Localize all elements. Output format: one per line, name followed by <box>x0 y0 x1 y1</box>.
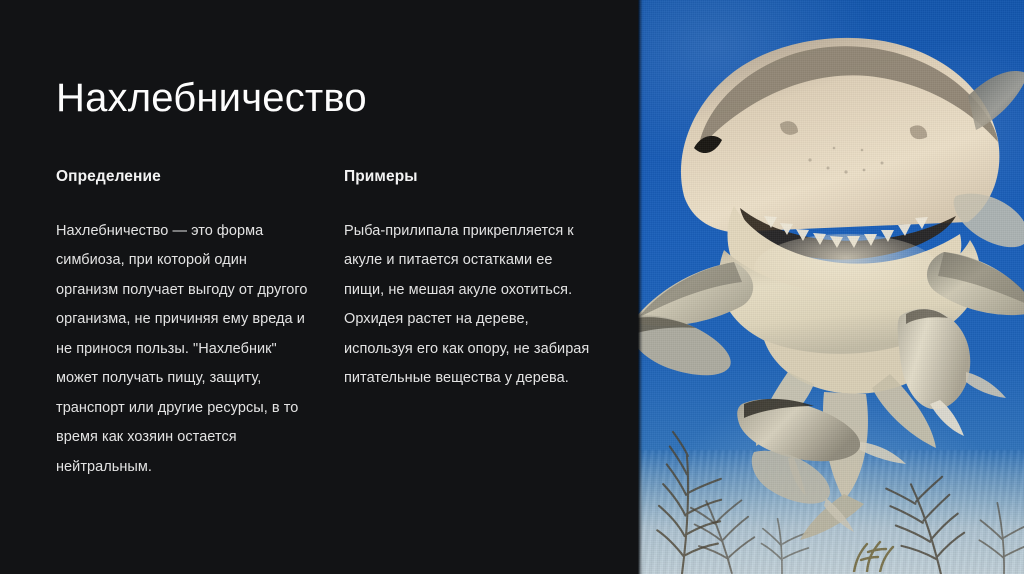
remora-fish <box>898 309 1006 436</box>
page-title: Нахлебничество <box>56 76 367 120</box>
content-columns: Определение Нахлебничество — это форма с… <box>56 168 596 482</box>
column-heading-examples: Примеры <box>344 168 596 187</box>
remora-fish <box>638 315 731 375</box>
column-examples: Примеры Рыба-прилипала прикрепляется к а… <box>344 168 596 482</box>
text-panel: Нахлебничество Определение Нахлебничеств… <box>0 0 638 574</box>
shark-with-remoras-photo <box>638 0 1024 574</box>
remora-fish <box>752 451 854 532</box>
slide: Нахлебничество Определение Нахлебничеств… <box>0 0 1024 574</box>
remora-fish-group <box>638 0 1024 574</box>
column-definition: Определение Нахлебничество — это форма с… <box>56 168 308 482</box>
remora-fish <box>954 194 1024 247</box>
column-body-definition: Нахлебничество — это форма симбиоза, при… <box>56 217 308 483</box>
column-body-examples: Рыба-прилипала прикрепляется к акуле и п… <box>344 217 596 394</box>
column-heading-definition: Определение <box>56 168 308 187</box>
